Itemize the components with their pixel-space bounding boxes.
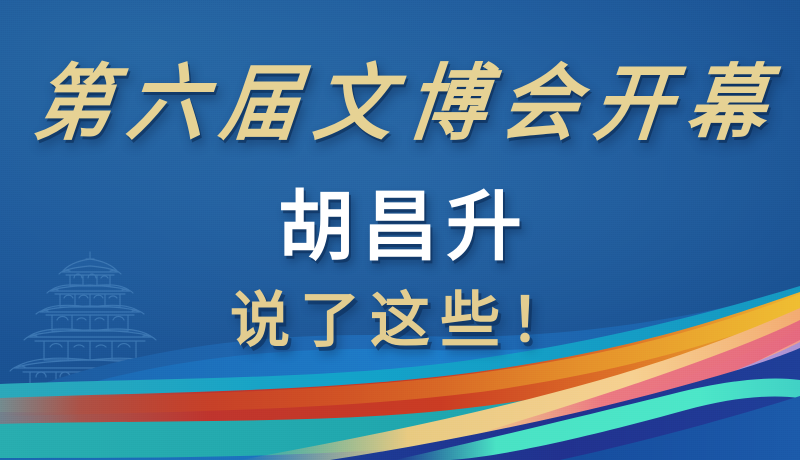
- text-layer: 第六届文博会开幕 胡昌升 说了这些！: [0, 0, 800, 460]
- headline-calligraphy: 第六届文博会开幕: [0, 64, 800, 147]
- poster-canvas: 第六届文博会开幕 胡昌升 说了这些！: [0, 0, 800, 460]
- subject-name: 胡昌升: [0, 190, 800, 266]
- kicker-text: 说了这些！: [0, 291, 800, 351]
